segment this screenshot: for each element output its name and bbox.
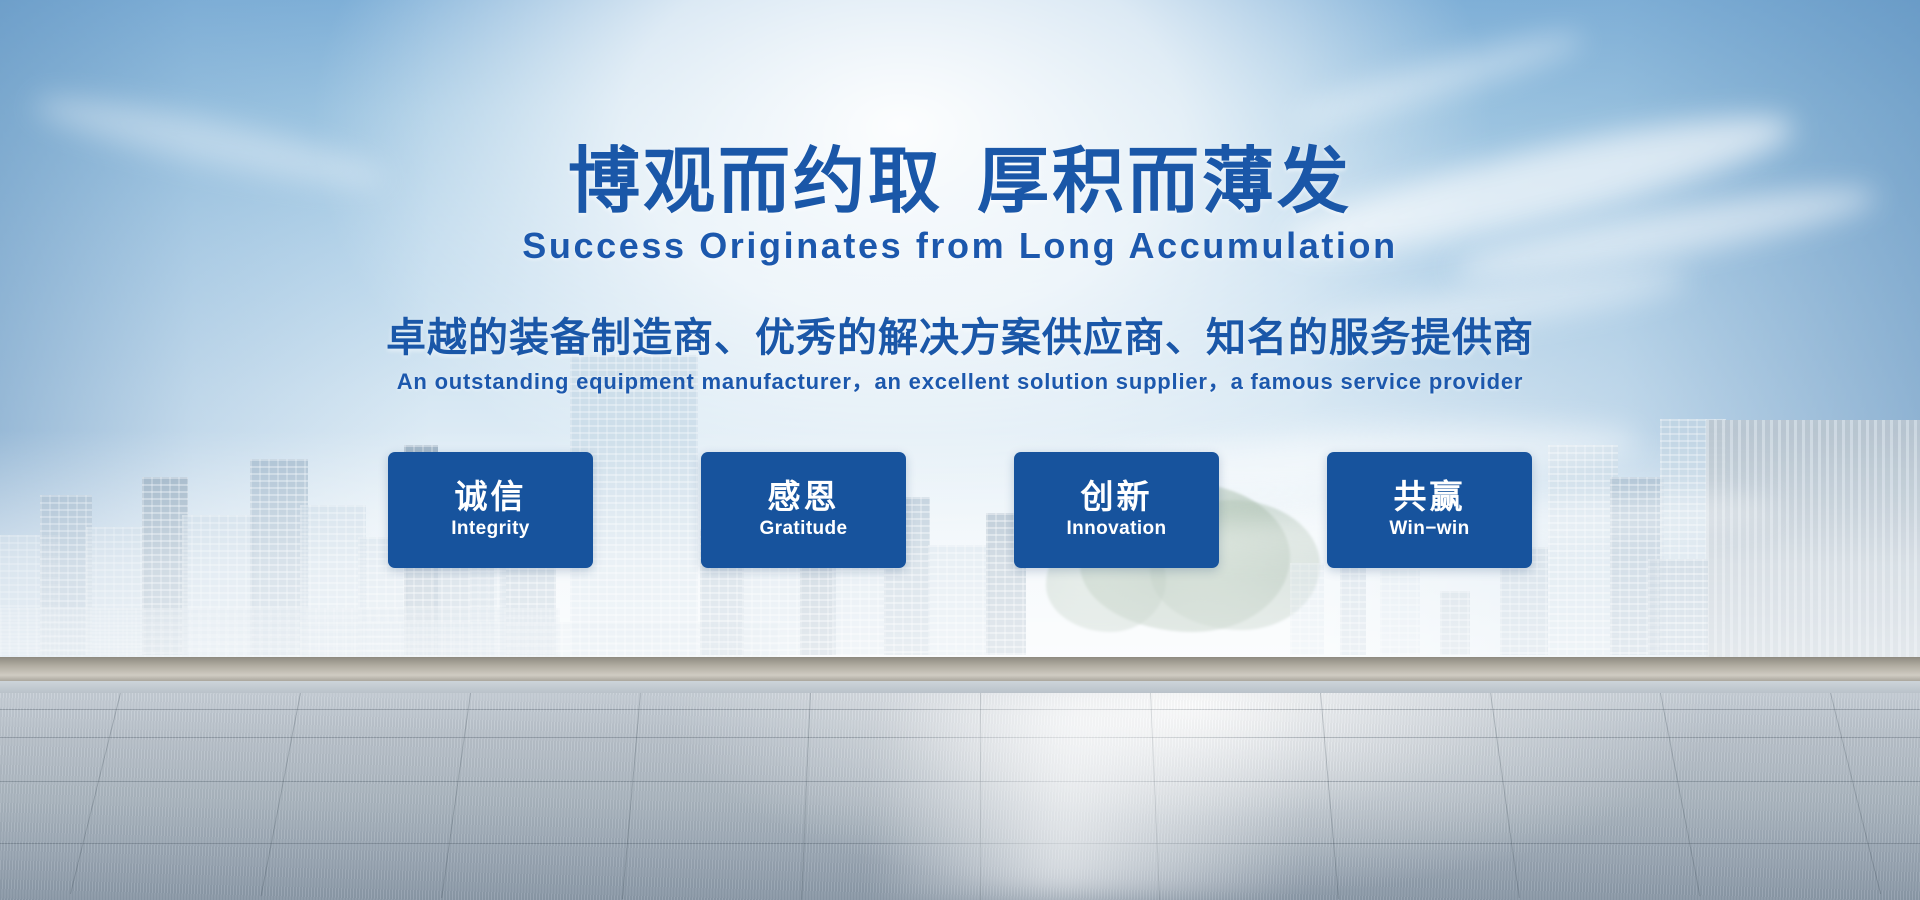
value-label-cn: 共赢 xyxy=(1394,479,1466,515)
value-label-en: Innovation xyxy=(1066,517,1166,541)
subtitle-chinese: 卓越的装备制造商、优秀的解决方案供应商、知名的服务提供商 xyxy=(0,305,1920,363)
core-values-list: 诚信 Integrity 感恩 Gratitude 创新 Innovation … xyxy=(388,452,1532,568)
value-box-innovation[interactable]: 创新 Innovation xyxy=(1014,452,1219,568)
value-box-integrity[interactable]: 诚信 Integrity xyxy=(388,452,593,568)
value-label-cn: 感恩 xyxy=(768,479,840,515)
value-label-en: Win−win xyxy=(1389,517,1469,541)
value-label-en: Gratitude xyxy=(759,517,847,541)
value-label-en: Integrity xyxy=(451,517,530,541)
hero-banner: 博观而约取厚积而薄发 Success Originates from Long … xyxy=(0,0,1920,900)
value-box-gratitude[interactable]: 感恩 Gratitude xyxy=(701,452,906,568)
headline-english: Success Originates from Long Accumulatio… xyxy=(0,225,1920,267)
value-label-cn: 创新 xyxy=(1081,479,1153,515)
value-label-cn: 诚信 xyxy=(455,479,527,515)
value-box-win-win[interactable]: 共赢 Win−win xyxy=(1327,452,1532,568)
headline-cn-part1: 博观而约取 xyxy=(568,142,943,222)
page-title: 博观而约取厚积而薄发 xyxy=(0,122,1920,227)
headline-cn-part2: 厚积而薄发 xyxy=(977,142,1352,222)
subtitle-english: An outstanding equipment manufacturer，an… xyxy=(0,364,1920,396)
